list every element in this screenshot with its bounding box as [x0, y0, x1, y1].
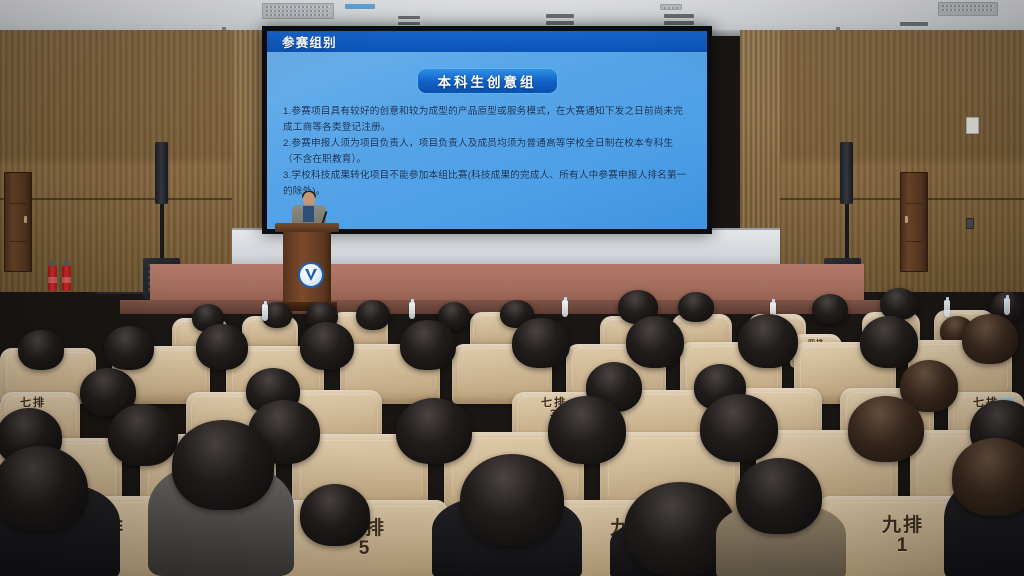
slide-badge-wrap: 本科生创意组: [283, 68, 691, 94]
audience-head: [512, 318, 570, 368]
left-line-array-speaker: [155, 142, 168, 204]
projection-screen-frame: 参赛组别 本科生创意组 1.参赛项目具有较好的创意和较为成型的产品原型或服务模式…: [262, 26, 712, 234]
slide-header-band: 参赛组别: [267, 31, 707, 52]
projected-slide: 参赛组别 本科生创意组 1.参赛项目具有较好的创意和较为成型的产品原型或服务模式…: [267, 31, 707, 229]
audience-head: [18, 330, 64, 370]
auditorium-scene: 参赛组别 本科生创意组 1.参赛项目具有较好的创意和较为成型的产品原型或服务模式…: [0, 0, 1024, 576]
slide-header-title: 参赛组别: [282, 32, 337, 51]
wall-switch-plate[interactable]: [966, 218, 974, 229]
audience-head-front: [460, 454, 564, 546]
ceiling-downlight-5: [664, 14, 694, 18]
audience-head-front: [952, 438, 1024, 516]
slide-paragraph-2: 2.参赛申报人须为项目负责人，项目负责人及成员均须为普通高等学校全日制在校本专科…: [283, 136, 691, 167]
university-emblem-icon: [298, 262, 324, 288]
ceiling-downlight-7: [900, 22, 928, 26]
audience-head: [860, 316, 918, 368]
ceiling-downlight-6: [664, 21, 694, 25]
slide-paragraph-1: 1.参赛项目具有较好的创意和较为成型的产品原型或服务模式，在大赛通知下发之日前尚…: [283, 104, 691, 135]
right-line-array-speaker: [840, 142, 853, 204]
audience-head-front: [300, 484, 370, 546]
water-bottle[interactable]: [409, 302, 415, 319]
audience-head: [108, 404, 178, 466]
ceiling-vent-1: [262, 3, 334, 19]
wall-notice-plate: [966, 117, 979, 134]
seat-label: 七排: [0, 398, 80, 410]
audience-head-front: [0, 446, 88, 532]
left-wall: [0, 30, 232, 292]
slide-paragraph-3: 3.学校科技成果转化项目不能参加本组比赛(科技成果的完成人、所有人中参赛申报人排…: [283, 168, 691, 199]
ceiling-downlight-4: [546, 21, 574, 25]
water-bottle[interactable]: [944, 300, 950, 317]
wall-seam-left: [0, 198, 232, 200]
ceiling-light-strip: [345, 4, 375, 9]
audience-head: [626, 316, 684, 368]
audience-head: [678, 292, 714, 322]
audience-head: [738, 314, 798, 368]
ceiling-vent-3: [938, 2, 998, 16]
audience-head: [700, 394, 778, 462]
right-exit-door[interactable]: [900, 172, 928, 272]
slide-body: 本科生创意组 1.参赛项目具有较好的创意和较为成型的产品原型或服务模式，在大赛通…: [267, 52, 707, 199]
audience-head: [396, 398, 472, 464]
audience-head: [812, 294, 848, 324]
audience-head: [548, 396, 626, 464]
audience-head-front: [736, 458, 822, 534]
water-bottle[interactable]: [262, 304, 268, 321]
audience-seating: 四排: [0, 288, 1024, 576]
presenter-head: [303, 192, 315, 206]
presenter-shirt: [303, 206, 314, 222]
ceiling-downlight-1: [398, 16, 420, 19]
right-speaker-stand: [845, 204, 849, 260]
audience-head: [104, 326, 154, 370]
ceiling-vent-2: [660, 4, 682, 10]
ceiling-downlight-2: [398, 22, 420, 25]
water-bottle[interactable]: [1004, 298, 1010, 315]
ceiling-downlight-3: [546, 14, 574, 18]
slide-badge-title: 本科生创意组: [417, 68, 558, 94]
water-bottle[interactable]: [562, 300, 568, 317]
left-speaker-stand: [160, 204, 164, 260]
audience-head: [300, 322, 354, 370]
audience-head: [400, 320, 456, 370]
audience-head: [356, 300, 390, 330]
left-exit-door[interactable]: [4, 172, 32, 272]
audience-head: [962, 314, 1018, 364]
audience-head: [196, 324, 248, 370]
podium-top: [275, 223, 339, 232]
audience-head-front: [172, 420, 274, 510]
audience-head: [848, 396, 924, 462]
